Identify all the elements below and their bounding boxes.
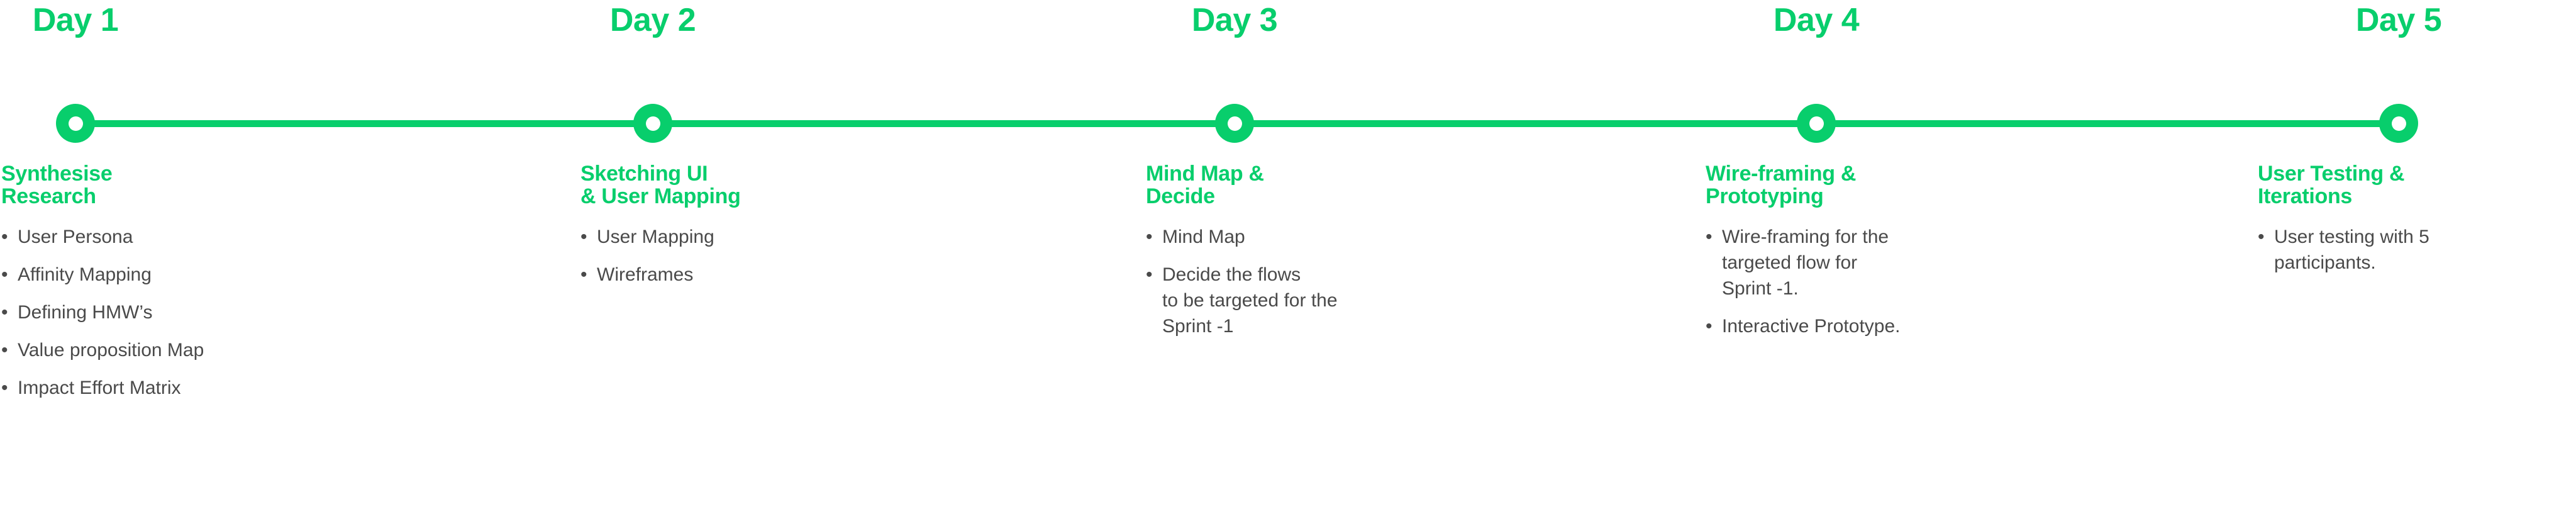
- list-item: Interactive Prototype.: [1706, 313, 2033, 339]
- milestone-column-3: Mind Map & Decide Mind Map Decide the fl…: [1146, 162, 1498, 351]
- milestone-heading-2: Sketching UI & User Mapping: [580, 162, 908, 208]
- list-item: Defining HMW’s: [1, 299, 328, 325]
- day-label-2: Day 2: [610, 4, 696, 36]
- timeline-node-icon-3[interactable]: [1215, 104, 1254, 143]
- list-item: Wire-framing for the targeted flow for S…: [1706, 224, 2033, 301]
- list-item: User Persona: [1, 224, 328, 250]
- list-item: User testing with 5 participants.: [2258, 224, 2572, 276]
- list-item: Affinity Mapping: [1, 262, 328, 288]
- day-label-1: Day 1: [33, 4, 118, 36]
- milestone-heading-5: User Testing & Iterations: [2258, 162, 2572, 208]
- timeline-node-icon-1[interactable]: [56, 104, 95, 143]
- list-item: Mind Map: [1146, 224, 1498, 250]
- milestone-heading-4: Wire-framing & Prototyping: [1706, 162, 2033, 208]
- milestone-bullets-3: Mind Map Decide the flows to be targeted…: [1146, 224, 1498, 339]
- list-item: Impact Effort Matrix: [1, 375, 328, 401]
- milestone-heading-1: Synthesise Research: [1, 162, 328, 208]
- day-label-3: Day 3: [1192, 4, 1277, 36]
- milestone-column-2: Sketching UI & User Mapping User Mapping…: [580, 162, 908, 299]
- milestone-bullets-2: User Mapping Wireframes: [580, 224, 908, 288]
- timeline-canvas: Day 1 Synthesise Research User Persona A…: [0, 0, 2576, 509]
- list-item: Wireframes: [580, 262, 908, 288]
- milestone-column-4: Wire-framing & Prototyping Wire-framing …: [1706, 162, 2033, 351]
- milestone-bullets-1: User Persona Affinity Mapping Defining H…: [1, 224, 328, 401]
- list-item: User Mapping: [580, 224, 908, 250]
- day-label-4: Day 4: [1774, 4, 1859, 36]
- list-item: Decide the flows to be targeted for the …: [1146, 262, 1498, 339]
- timeline-node-icon-4[interactable]: [1797, 104, 1836, 143]
- milestone-column-1: Synthesise Research User Persona Affinit…: [1, 162, 328, 413]
- list-item: Value proposition Map: [1, 337, 328, 363]
- milestone-column-5: User Testing & Iterations User testing w…: [2258, 162, 2572, 288]
- milestone-bullets-5: User testing with 5 participants.: [2258, 224, 2572, 276]
- milestone-heading-3: Mind Map & Decide: [1146, 162, 1498, 208]
- milestone-bullets-4: Wire-framing for the targeted flow for S…: [1706, 224, 2033, 339]
- day-label-5: Day 5: [2356, 4, 2441, 36]
- timeline-node-icon-2[interactable]: [633, 104, 672, 143]
- timeline-node-icon-5[interactable]: [2379, 104, 2418, 143]
